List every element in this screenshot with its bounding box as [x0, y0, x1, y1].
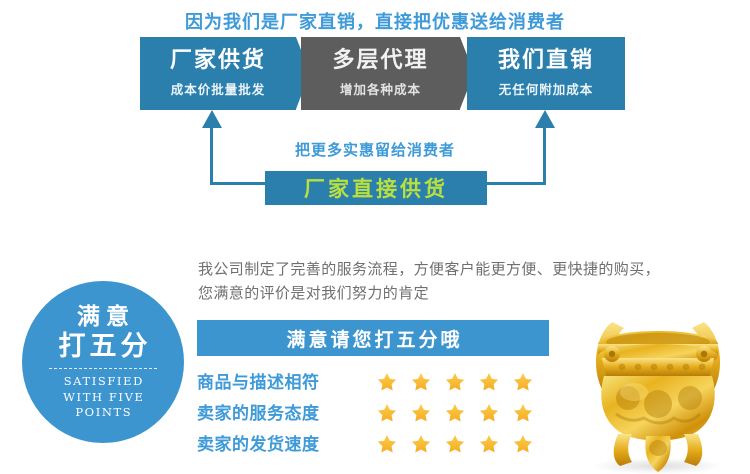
star-icon — [443, 431, 467, 455]
satisfaction-badge: 满意 打五分 SATISFIED WITH FIVE POINTS — [22, 281, 184, 443]
ribbon-line-left — [236, 183, 268, 185]
chain-box-factory-subtitle: 成本价批量批发 — [171, 79, 266, 98]
chain-box-agents-title: 多层代理 — [332, 49, 428, 73]
chain-box-agents: 多层代理 增加各种成本 — [301, 37, 460, 110]
star-icon — [375, 400, 399, 424]
star-icon — [409, 400, 433, 424]
rating-list: 商品与描述相符 卖家的服务态度 卖家的发货速度 — [197, 366, 597, 459]
star-icon — [511, 431, 535, 455]
chain-box-direct-sale-title: 我们直销 — [498, 49, 594, 73]
badge-en-line2: WITH FIVE — [62, 390, 145, 405]
star-icon — [375, 431, 399, 455]
ribbon-line-right — [484, 183, 516, 185]
rating-row: 卖家的发货速度 — [197, 428, 597, 457]
chain-box-factory: 厂家供货 成本价批量批发 — [140, 37, 296, 110]
badge-en-line3: POINTS — [62, 405, 145, 420]
star-icon — [477, 369, 501, 393]
badge-en-line1: SATISFIED — [62, 374, 145, 389]
star-icon — [511, 369, 535, 393]
rating-row: 卖家的服务态度 — [197, 397, 597, 426]
star-icon — [511, 400, 535, 424]
chain-box-direct-sale: 我们直销 无任何附加成本 — [467, 37, 625, 110]
loop-stem-right — [543, 127, 546, 183]
rating-label-shipping-speed: 卖家的发货速度 — [197, 430, 375, 455]
promo-banner: 因为我们是厂家直销，直接把优惠送给消费者 厂家供货 成本价批量批发 多层代理 增… — [0, 0, 750, 474]
badge-divider — [49, 368, 157, 369]
star-icon — [477, 431, 501, 455]
loop-stem-left — [210, 127, 213, 183]
golden-ding-icon — [566, 300, 750, 474]
loop-caption: 把更多实惠留给消费者 — [0, 139, 750, 160]
star-icon — [477, 400, 501, 424]
rating-label-seller-service: 卖家的服务态度 — [197, 399, 375, 424]
chain-box-factory-title: 厂家供货 — [170, 49, 266, 73]
rating-label-item-as-described: 商品与描述相符 — [197, 368, 375, 393]
rate-five-stars-banner: 满意请您打五分哦 — [197, 320, 549, 356]
rating-stars-item-as-described — [375, 369, 535, 393]
badge-cn-line2: 打五分 — [55, 331, 152, 362]
badge-cn-line1: 满意 — [71, 304, 135, 330]
star-icon — [443, 369, 467, 393]
rating-row: 商品与描述相符 — [197, 366, 597, 395]
arrow-up-right-icon — [535, 110, 555, 128]
service-intro-text: 我公司制定了完善的服务流程，方便客户能更方便、更快捷的购买，您满意的评价是对我们… — [198, 257, 668, 306]
headline: 因为我们是厂家直销，直接把优惠送给消费者 — [0, 8, 750, 34]
chain-box-direct-sale-subtitle: 无任何附加成本 — [499, 79, 594, 98]
ribbon-direct-supply: 厂家直接供货 — [265, 171, 487, 205]
star-icon — [375, 369, 399, 393]
arrow-up-left-icon — [202, 110, 222, 128]
star-icon — [443, 400, 467, 424]
rating-stars-seller-service — [375, 400, 535, 424]
star-icon — [409, 369, 433, 393]
chain-box-agents-subtitle: 增加各种成本 — [340, 79, 421, 98]
rating-stars-shipping-speed — [375, 431, 535, 455]
star-icon — [409, 431, 433, 455]
